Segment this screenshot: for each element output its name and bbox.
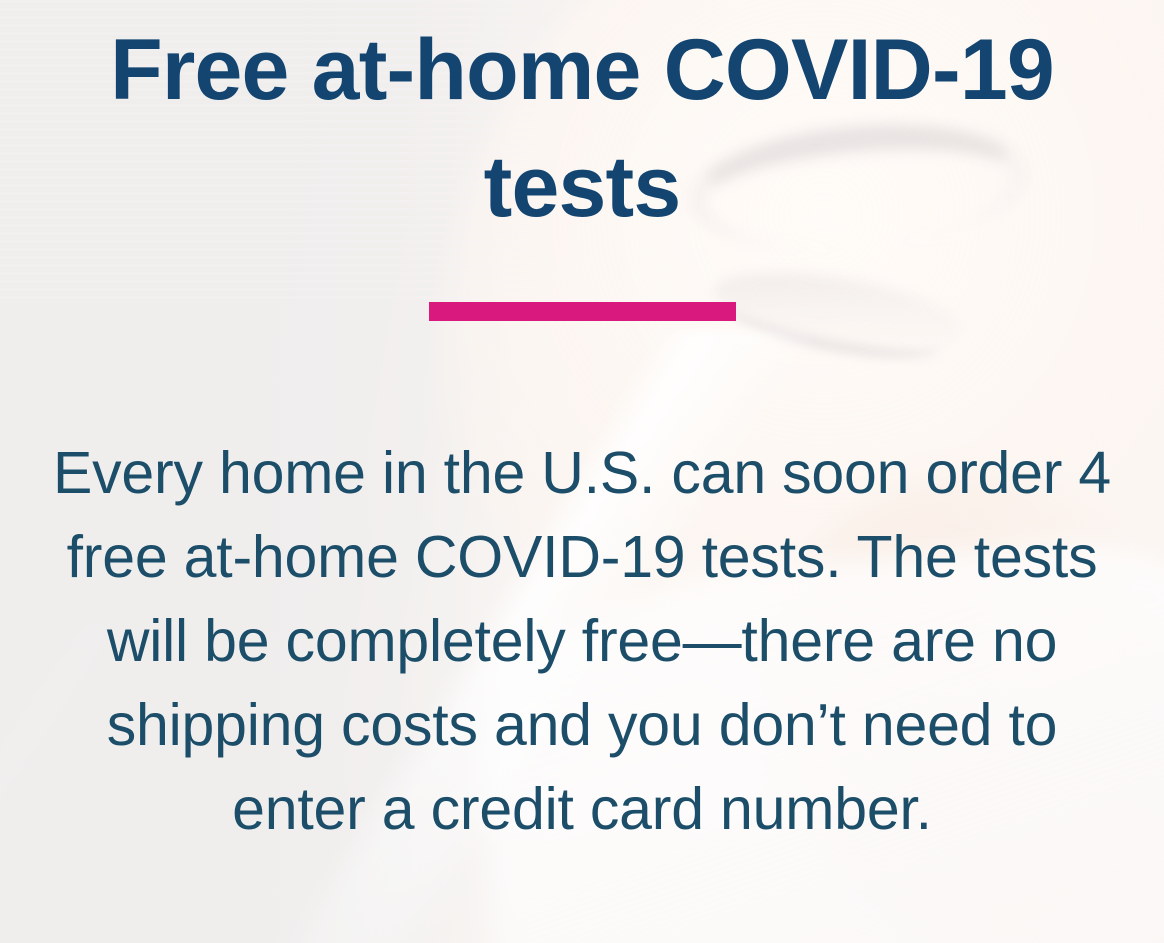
body-line-2: free at-home COVID-19 tests. The tests	[4, 515, 1160, 599]
body-line-5: enter a credit card number.	[4, 767, 1160, 851]
pink-rule-divider	[429, 302, 736, 321]
page-title-line-2: tests	[484, 139, 681, 235]
poster-content: Free at-home COVID-19tests Every home in…	[0, 0, 1164, 943]
poster: Free at-home COVID-19tests Every home in…	[0, 0, 1164, 943]
page-title: Free at-home COVID-19tests	[0, 0, 1164, 246]
page-title-line-1: Free at-home COVID-19	[110, 22, 1054, 118]
body-paragraph: Every home in the U.S. can soon order 4f…	[0, 431, 1164, 851]
body-line-4: shipping costs and you don’t need to	[4, 683, 1160, 767]
divider-container	[0, 302, 1164, 321]
body-line-3: will be completely free—there are no	[4, 599, 1160, 683]
body-line-1: Every home in the U.S. can soon order 4	[4, 431, 1160, 515]
